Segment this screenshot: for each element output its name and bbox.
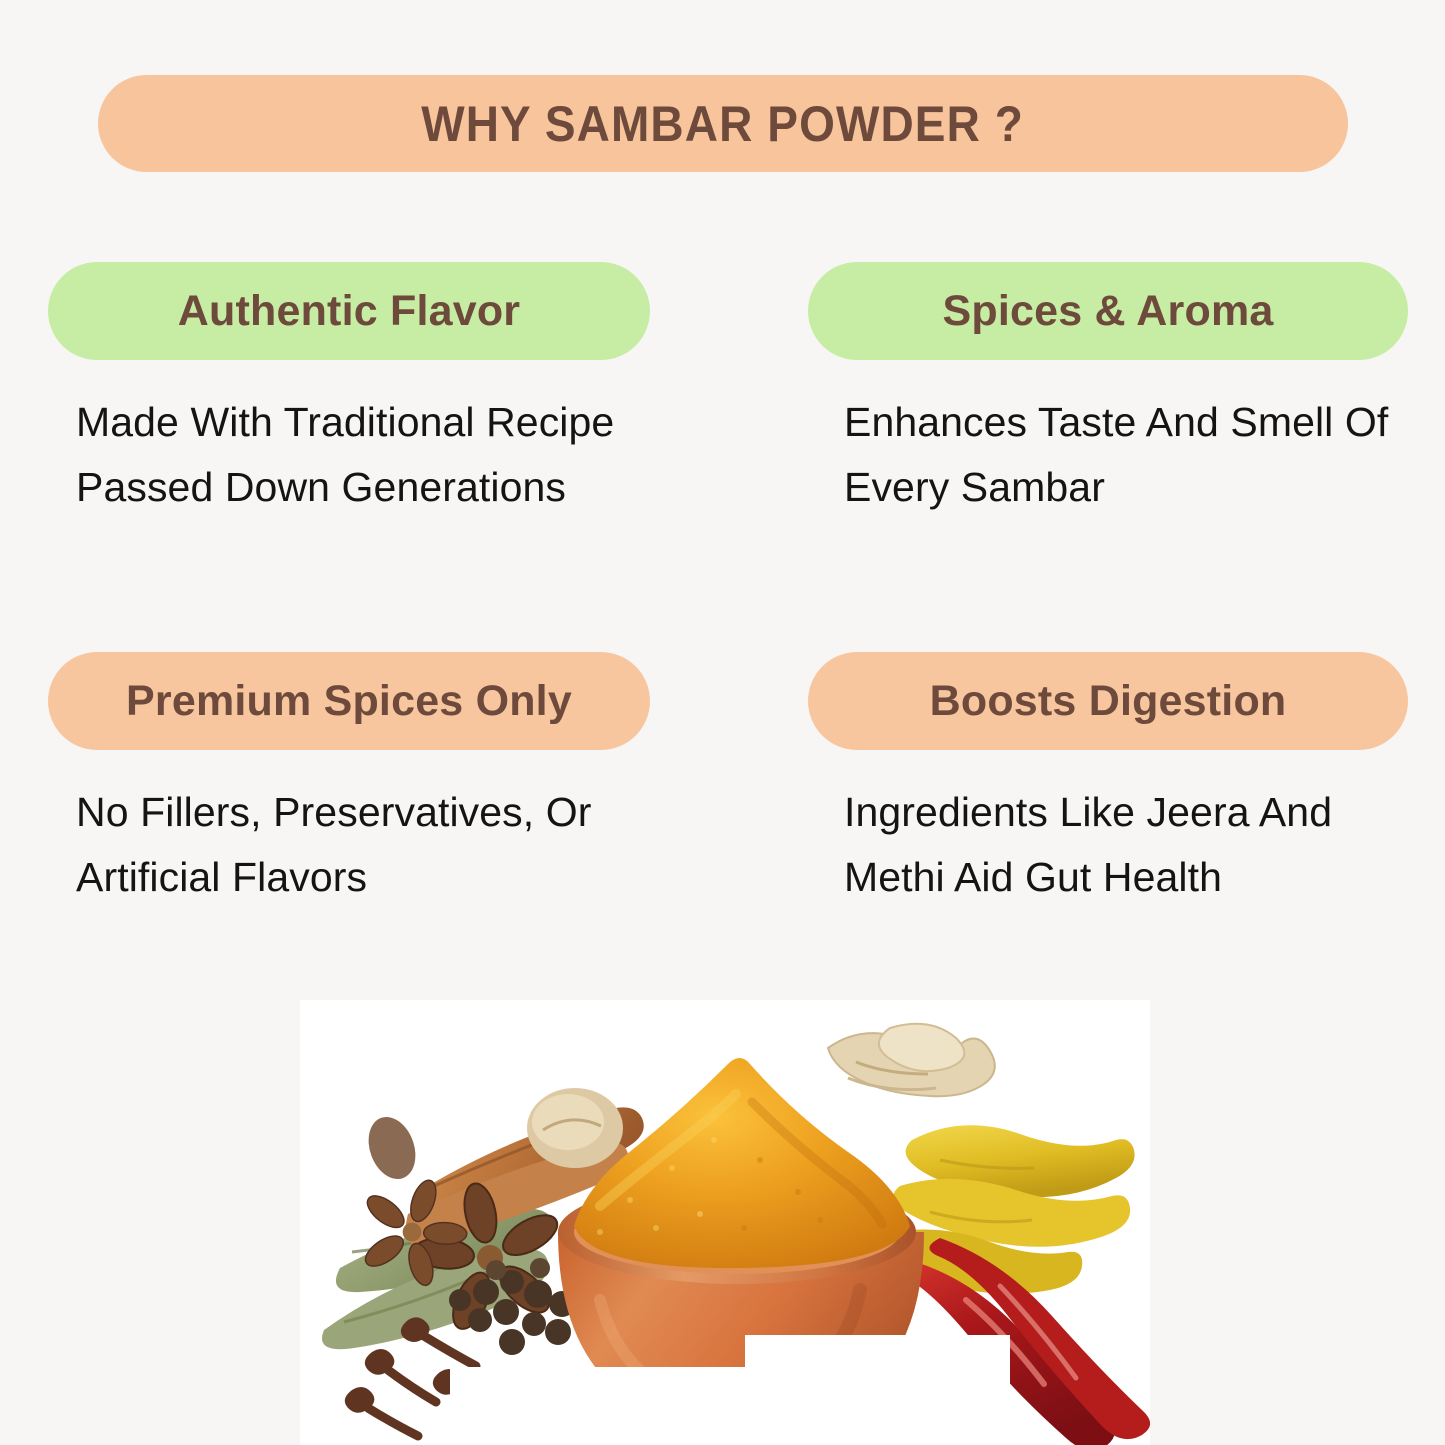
feature-heading-0: Authentic Flavor xyxy=(178,287,520,336)
feature-heading-2: Premium Spices Only xyxy=(126,677,572,726)
feature-heading-pill-1: Spices & Aroma xyxy=(808,262,1408,360)
feature-body-3: Ingredients Like Jeera And Methi Aid Gut… xyxy=(808,780,1408,910)
feature-card-premium-spices: Premium Spices Only No Fillers, Preserva… xyxy=(48,652,650,910)
feature-heading-1: Spices & Aroma xyxy=(943,287,1274,336)
poster-root: WHY SAMBAR POWDER ? Authentic Flavor Mad… xyxy=(0,0,1445,1445)
feature-heading-pill-3: Boosts Digestion xyxy=(808,652,1408,750)
feature-body-0: Made With Traditional Recipe Passed Down… xyxy=(48,390,650,520)
nutmeg-cluster xyxy=(527,1088,623,1168)
feature-card-spices-aroma: Spices & Aroma Enhances Taste And Smell … xyxy=(808,262,1408,520)
feature-heading-3: Boosts Digestion xyxy=(930,677,1287,726)
photo-bottom-mask-right xyxy=(745,1335,1010,1445)
feature-body-1: Enhances Taste And Smell Of Every Sambar xyxy=(808,390,1408,520)
spice-bowl-photo xyxy=(300,1000,1150,1445)
feature-card-boosts-digestion: Boosts Digestion Ingredients Like Jeera … xyxy=(808,652,1408,910)
feature-card-authentic-flavor: Authentic Flavor Made With Traditional R… xyxy=(48,262,650,520)
feature-grid: Authentic Flavor Made With Traditional R… xyxy=(0,0,1445,1000)
feature-body-2: No Fillers, Preservatives, Or Artificial… xyxy=(48,780,650,910)
feature-heading-pill-0: Authentic Flavor xyxy=(48,262,650,360)
feature-heading-pill-2: Premium Spices Only xyxy=(48,652,650,750)
